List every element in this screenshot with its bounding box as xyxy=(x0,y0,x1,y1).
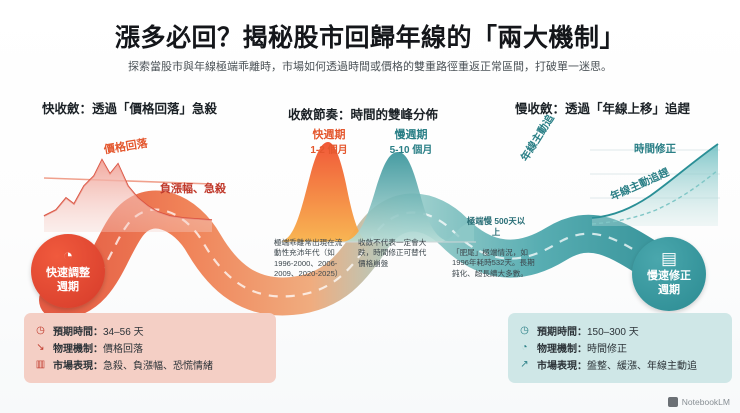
badge-fast-line2: 週期 xyxy=(57,281,79,295)
slow-cycle-title: 慢週期 xyxy=(395,129,428,141)
infographic-canvas: 漲多必回？揭秘股市回歸年線的「兩大機制」 探索當股市與年線極端乖離時，市場如何透… xyxy=(0,0,740,413)
card-row: ◔ 物理機制： 時間修正 xyxy=(518,340,722,355)
speedometer-icon: ◔ xyxy=(63,247,73,264)
clock-icon: ◷ xyxy=(34,324,47,337)
summary-card-fast: ◷ 預期時間： 34–56 天 ↘ 物理機制： 價格回落 ▥ 市場表現： 急殺、… xyxy=(24,313,276,383)
trend-down-icon: ↘ xyxy=(34,341,47,354)
annotation-slow-cycle: 慢週期 5-10 個月 xyxy=(380,128,442,157)
footer-brand-label: NotebookLM xyxy=(682,397,730,407)
card-right-value-1: 時間修正 xyxy=(587,340,627,355)
card-right-value-2: 盤整、緩漲、年線主動追 xyxy=(587,357,697,372)
note-extreme-slow: 極端慢 500天以上 xyxy=(463,216,529,239)
card-left-label-0: 預期時間： xyxy=(53,323,103,338)
fast-cycle-title: 快週期 xyxy=(313,129,346,141)
badge-slow-line1: 慢速修正 xyxy=(647,270,691,284)
slow-cycle-range: 5-10 個月 xyxy=(380,144,442,158)
bar-chart-icon: ▥ xyxy=(34,358,47,371)
card-right-label-1: 物理機制： xyxy=(537,340,587,355)
annotation-time-fix: 時間修正 xyxy=(634,142,676,156)
footer-brand: NotebookLM xyxy=(668,397,730,407)
note-time-correction: 收斂不代表一定會大跌，時間修正可替代價格崩盤 xyxy=(358,238,430,269)
note-fat-tail: 「肥尾」極端情況，如1996年耗時532天。長期鈍化、超長續大多數。 xyxy=(452,248,538,279)
notebooklm-icon xyxy=(668,397,678,407)
calendar-clock-icon: ▤ xyxy=(661,250,677,267)
card-row: ◷ 預期時間： 150–300 天 xyxy=(518,323,722,338)
badge-fast-line1: 快速調整 xyxy=(46,267,90,281)
card-row: ◷ 預期時間： 34–56 天 xyxy=(34,323,266,338)
fast-cycle-range: 1-2 個月 xyxy=(300,144,358,158)
badge-slow-line2: 週期 xyxy=(658,284,680,298)
card-row: ▥ 市場表現： 急殺、負漲幅、恐慌情緒 xyxy=(34,357,266,372)
summary-card-slow: ◷ 預期時間： 150–300 天 ◔ 物理機制： 時間修正 ↗ 市場表現： 盤… xyxy=(508,313,732,383)
badge-slow-correct-cycle: ▤ 慢速修正 週期 xyxy=(632,237,706,311)
card-left-label-1: 物理機制： xyxy=(53,340,103,355)
card-left-value-1: 價格回落 xyxy=(103,340,143,355)
card-row: ↘ 物理機制： 價格回落 xyxy=(34,340,266,355)
clock-icon: ◔ xyxy=(518,341,531,354)
card-left-value-0: 34–56 天 xyxy=(103,323,144,338)
card-right-label-0: 預期時間： xyxy=(537,323,587,338)
note-liquidity-eras: 極端乖離常出現在流動性充沛年代（如1996-2000、2006-2009、202… xyxy=(274,238,348,279)
annotation-fast-cycle: 快週期 1-2 個月 xyxy=(300,128,358,157)
card-left-label-2: 市場表現： xyxy=(53,357,103,372)
badge-fast-adjust-cycle: ◔ 快速調整 週期 xyxy=(31,234,105,308)
annotation-negative-amplitude: 負漲幅、急殺 xyxy=(160,182,226,197)
trend-up-icon: ↗ xyxy=(518,358,531,371)
card-right-value-0: 150–300 天 xyxy=(587,323,639,338)
card-right-label-2: 市場表現： xyxy=(537,357,587,372)
card-left-value-2: 急殺、負漲幅、恐慌情緒 xyxy=(103,357,213,372)
clock-icon: ◷ xyxy=(518,324,531,337)
card-row: ↗ 市場表現： 盤整、緩漲、年線主動追 xyxy=(518,357,722,372)
